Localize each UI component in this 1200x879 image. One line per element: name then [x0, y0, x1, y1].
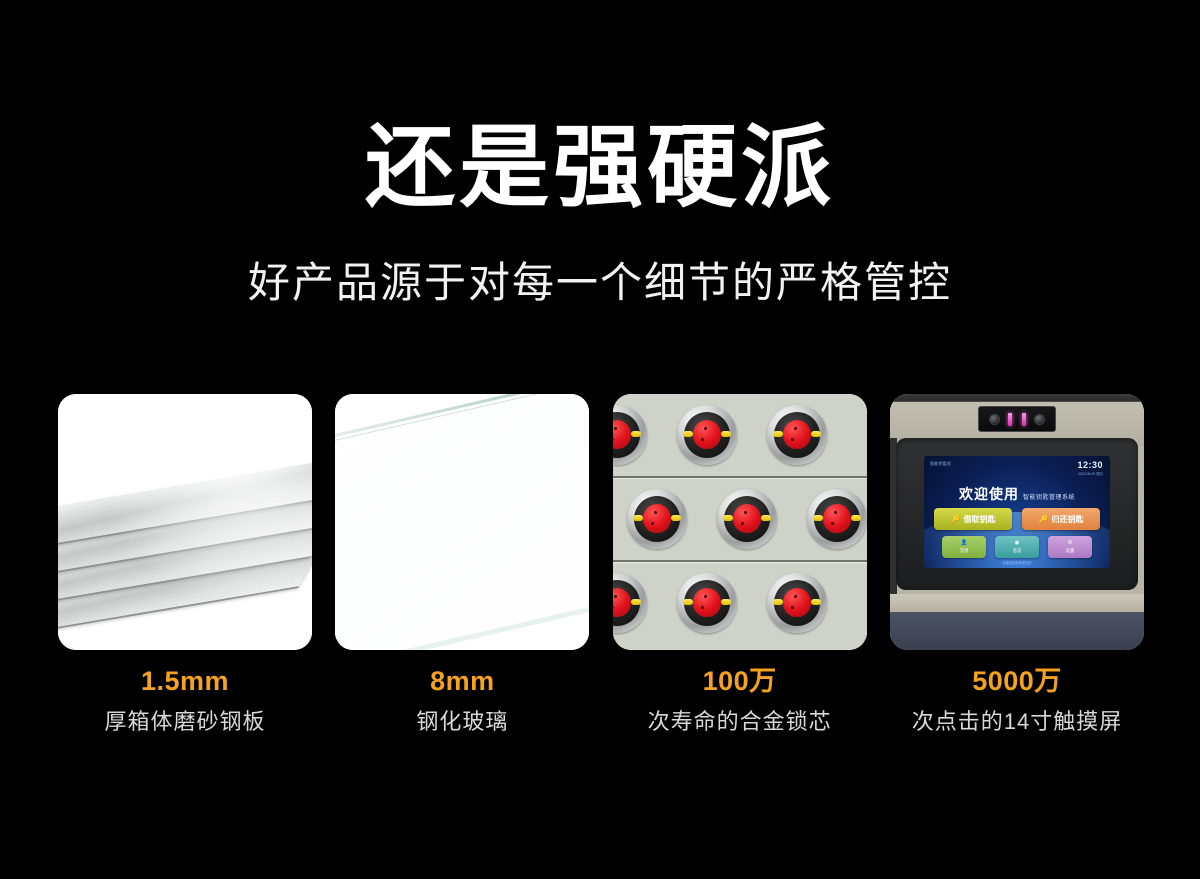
- lock-tab-left: [683, 431, 693, 437]
- borrow-key-label: 借取钥匙: [963, 514, 995, 525]
- touchscreen-terminal-image: 智能钥匙柜 12:30 2023-08-20 周日 欢迎使用智能钥匙管理系统 🔑…: [890, 394, 1144, 650]
- lock-tab-right: [721, 431, 731, 437]
- lock-cylinder: [613, 573, 647, 633]
- welcome-subtitle: 智能钥匙管理系统: [1023, 495, 1075, 501]
- key-return-icon: 🔑: [1039, 515, 1049, 524]
- screen-primary-buttons: 🔑 借取钥匙 🔑 归还钥匙: [934, 508, 1100, 530]
- caption-desc: 厚箱体磨砂钢板: [58, 706, 312, 738]
- promo-page: 还是强硬派 好产品源于对每一个细节的严格管控: [0, 0, 1200, 879]
- page-headline: 还是强硬派: [0, 118, 1200, 218]
- card-reader-module: [978, 406, 1056, 432]
- caption-desc: 钢化玻璃: [335, 706, 589, 738]
- screen-date: 2023-08-20 周日: [1078, 471, 1103, 476]
- lock-row: [613, 562, 867, 644]
- settings-icon: ⚙: [1068, 540, 1073, 547]
- lock-cylinder: [807, 489, 867, 549]
- lock-red-cap: [783, 588, 811, 617]
- lock-tab-right: [811, 431, 821, 437]
- camera-lens-icon: [990, 415, 999, 424]
- overview-button[interactable]: ◉ 总览: [995, 536, 1039, 558]
- return-key-label: 归还钥匙: [1051, 514, 1083, 525]
- lock-tab-left: [633, 515, 643, 521]
- caption-desc: 次寿命的合金锁芯: [613, 706, 867, 738]
- terminal-base: [890, 612, 1144, 650]
- lock-row: [613, 394, 867, 476]
- handover-button[interactable]: 👤 交接: [942, 536, 986, 558]
- screen-brand-label: 智能钥匙柜: [930, 461, 952, 467]
- lock-cylinder: [627, 489, 687, 549]
- caption-glass: 8mm 钢化玻璃: [335, 664, 589, 738]
- screen-bezel: 智能钥匙柜 12:30 2023-08-20 周日 欢迎使用智能钥匙管理系统 🔑…: [896, 438, 1138, 590]
- lock-tab-right: [671, 515, 681, 521]
- key-icon: 🔑: [951, 515, 961, 524]
- caption-steel: 1.5mm 厚箱体磨砂钢板: [58, 664, 312, 738]
- page-subheadline: 好产品源于对每一个细节的严格管控: [0, 255, 1200, 311]
- lock-cylinder: [613, 405, 647, 465]
- lock-tab-left: [773, 431, 783, 437]
- feature-image-row: 智能钥匙柜 12:30 2023-08-20 周日 欢迎使用智能钥匙管理系统 🔑…: [58, 394, 1144, 650]
- handover-label: 交接: [960, 547, 969, 554]
- caption-value: 1.5mm: [58, 664, 312, 698]
- lock-red-cap: [693, 420, 721, 449]
- caption-desc: 次点击的14寸触摸屏: [890, 706, 1144, 738]
- indicator-led-icon: [1008, 413, 1012, 426]
- handover-icon: 👤: [961, 540, 968, 547]
- terminal-lower-band: [890, 594, 1144, 612]
- indicator-led-icon: [1022, 413, 1026, 426]
- lock-row: [613, 478, 867, 560]
- caption-value: 5000万: [890, 664, 1144, 698]
- brushed-steel-illustration: [58, 394, 312, 650]
- lock-tab-left: [773, 599, 783, 605]
- caption-touchscreen: 5000万 次点击的14寸触摸屏: [890, 664, 1144, 738]
- terminal-illustration: 智能钥匙柜 12:30 2023-08-20 周日 欢迎使用智能钥匙管理系统 🔑…: [890, 394, 1144, 650]
- lock-tab-left: [813, 515, 823, 521]
- lock-red-cap: [733, 504, 761, 533]
- terminal-screen[interactable]: 智能钥匙柜 12:30 2023-08-20 周日 欢迎使用智能钥匙管理系统 🔑…: [924, 456, 1110, 568]
- screen-secondary-buttons: 👤 交接 ◉ 总览 ⚙ 设置: [942, 536, 1092, 558]
- caption-lock: 100万 次寿命的合金锁芯: [613, 664, 867, 738]
- lock-tab-right: [851, 515, 861, 521]
- screen-footer-note: 智能钥匙柜管理系统: [924, 560, 1110, 565]
- lock-red-cap: [693, 588, 721, 617]
- overview-icon: ◉: [1015, 540, 1020, 547]
- lock-tab-right: [721, 599, 731, 605]
- lock-tab-right: [631, 599, 641, 605]
- lock-grid-illustration: [613, 394, 867, 650]
- return-key-button[interactable]: 🔑 归还钥匙: [1022, 508, 1100, 530]
- feature-card-steel: [58, 394, 312, 650]
- lock-tab-right: [761, 515, 771, 521]
- lock-red-cap: [783, 420, 811, 449]
- lock-cylinder-image: [613, 394, 867, 650]
- camera-lens-icon: [1035, 415, 1044, 424]
- glass-illustration: [335, 394, 589, 650]
- settings-button[interactable]: ⚙ 设置: [1048, 536, 1092, 558]
- lock-tab-right: [811, 599, 821, 605]
- screen-clock: 12:30: [1077, 460, 1103, 470]
- lock-red-cap: [823, 504, 851, 533]
- lock-cylinder: [717, 489, 777, 549]
- overview-label: 总览: [1013, 547, 1022, 554]
- lock-cylinder: [767, 573, 827, 633]
- glass-sheen-overlay: [335, 394, 589, 650]
- borrow-key-button[interactable]: 🔑 借取钥匙: [934, 508, 1012, 530]
- settings-label: 设置: [1066, 547, 1075, 554]
- caption-value: 100万: [613, 664, 867, 698]
- feature-card-touchscreen: 智能钥匙柜 12:30 2023-08-20 周日 欢迎使用智能钥匙管理系统 🔑…: [890, 394, 1144, 650]
- lock-cylinder: [677, 405, 737, 465]
- lock-red-cap: [643, 504, 671, 533]
- welcome-title: 欢迎使用: [959, 486, 1019, 502]
- lock-tab-right: [631, 431, 641, 437]
- screen-welcome-block: 欢迎使用智能钥匙管理系统: [924, 484, 1110, 504]
- lock-tab-left: [723, 515, 733, 521]
- feature-card-glass: [335, 394, 589, 650]
- feature-card-lock: [613, 394, 867, 650]
- tempered-glass-image: [335, 394, 589, 650]
- lock-tab-left: [683, 599, 693, 605]
- steel-sheets-image: [58, 394, 312, 650]
- lock-cylinder: [677, 573, 737, 633]
- lock-cylinder: [767, 405, 827, 465]
- caption-value: 8mm: [335, 664, 589, 698]
- feature-caption-row: 1.5mm 厚箱体磨砂钢板 8mm 钢化玻璃 100万 次寿命的合金锁芯 500…: [58, 664, 1144, 738]
